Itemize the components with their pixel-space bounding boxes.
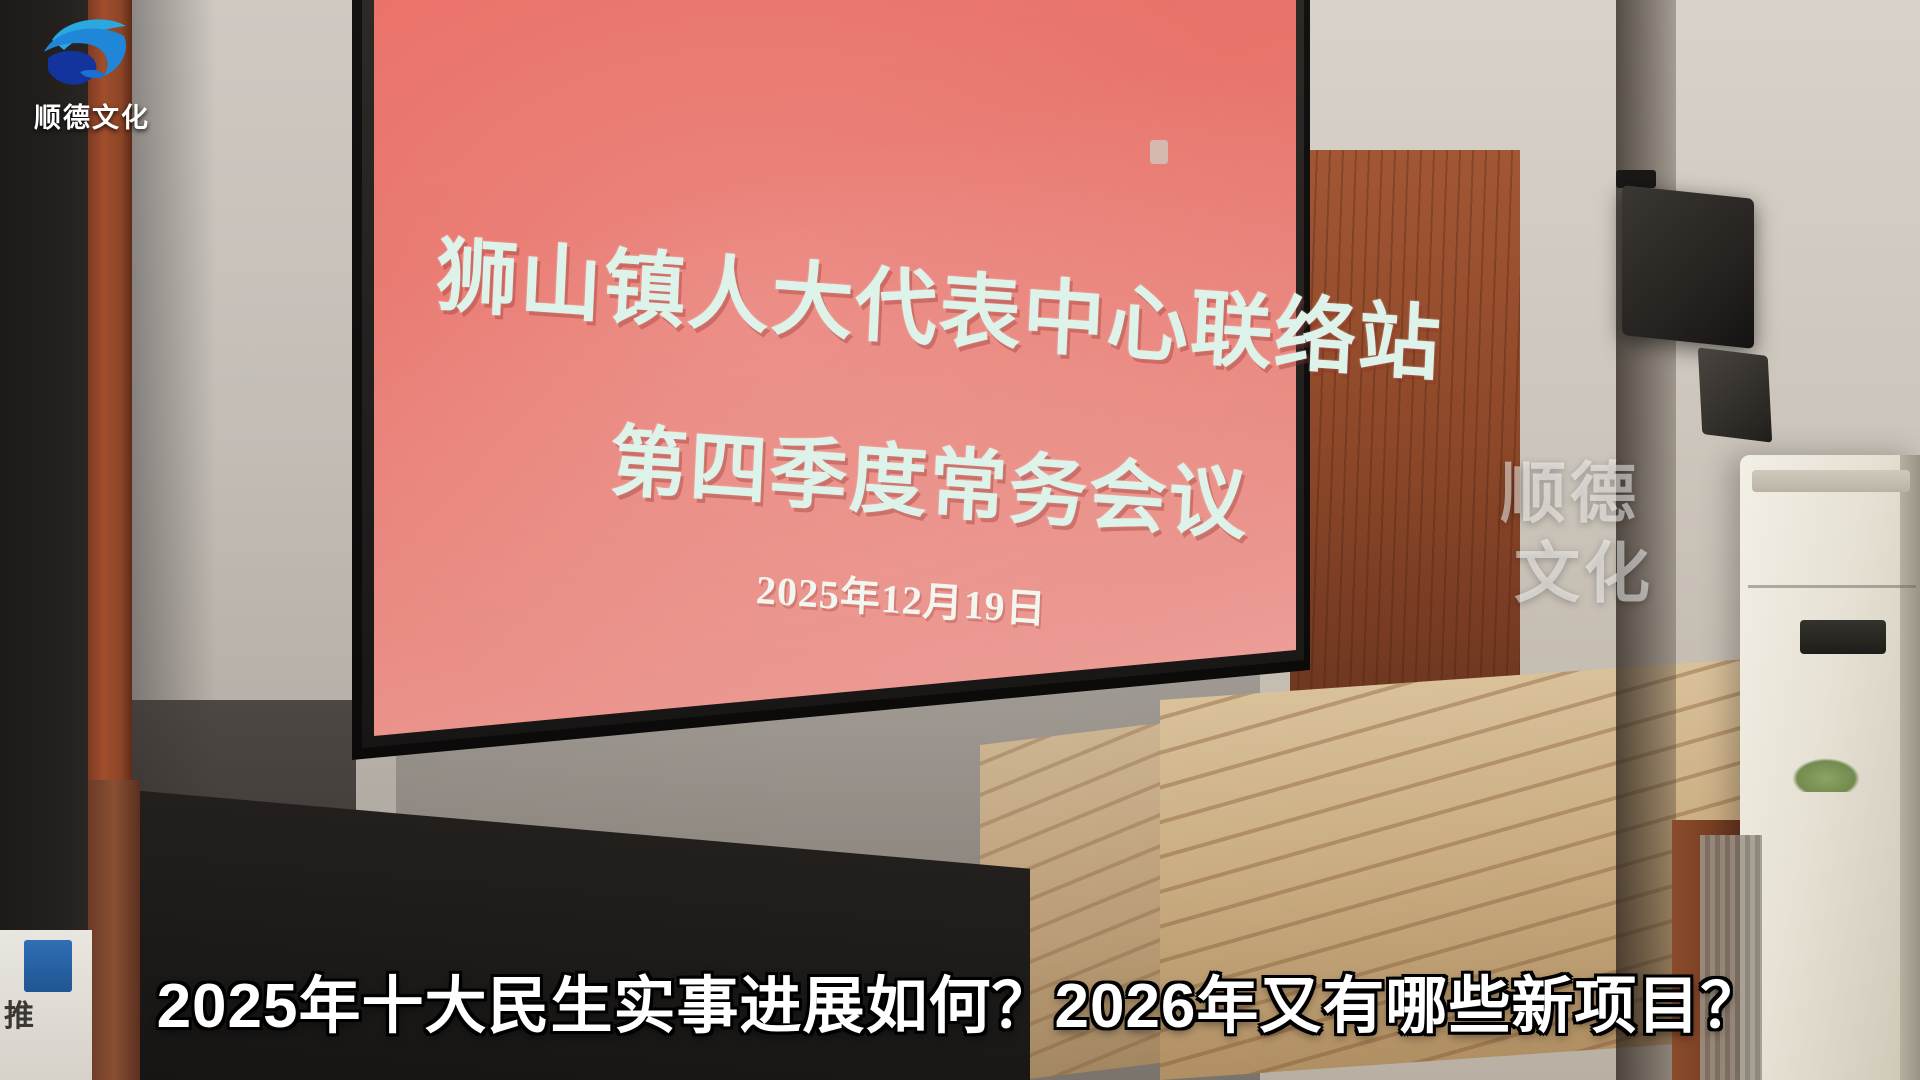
left-dark-pillar (0, 0, 96, 1080)
video-frame: 推 狮山镇人大代表中心联络站 第四季度常务会议 2025年12月19日 顺德文化… (0, 0, 1920, 1080)
subtitle-caption: 2025年十大民生实事进展如何？2026年又有哪些新项目？ (0, 955, 1920, 1045)
air-conditioner-display (1800, 620, 1886, 654)
swoosh-globe-icon (34, 10, 138, 96)
channel-logo: 顺德文化 (16, 8, 166, 138)
slide-title-line2: 第四季度常务会议 (608, 399, 1252, 556)
right-dark-column (1616, 0, 1676, 1080)
slide-title-line1: 狮山镇人大代表中心联络站 (434, 208, 1445, 397)
wood-wall-panel (1290, 150, 1520, 710)
slide-date: 2025年12月19日 (755, 557, 1048, 635)
air-conditioner-seam (1748, 585, 1916, 588)
slide-content: 狮山镇人大代表中心联络站 第四季度常务会议 2025年12月19日 (295, 10, 1308, 858)
speaker-grill (1698, 347, 1772, 442)
speaker-mount (1616, 170, 1656, 188)
ceiling-speaker-icon (1622, 185, 1754, 349)
potted-plant (1792, 758, 1860, 792)
air-conditioner-vent (1752, 470, 1910, 492)
logo-label: 顺德文化 (22, 96, 162, 135)
